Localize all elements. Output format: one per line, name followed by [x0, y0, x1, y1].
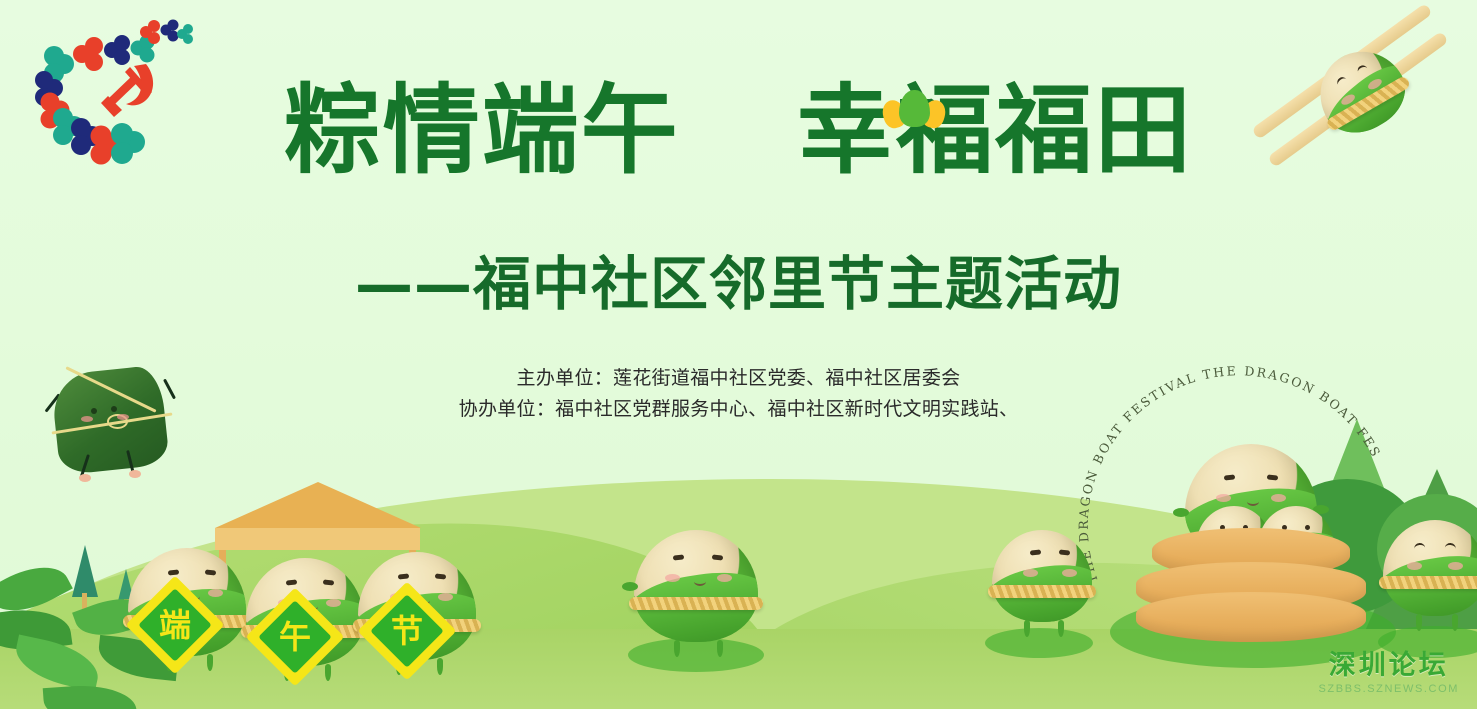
blush: [1407, 562, 1422, 570]
eye-icon: [204, 569, 215, 575]
page-subtitle: ——福中社区邻里节主题活动: [0, 255, 1477, 313]
tent-roof: [215, 482, 421, 528]
eye-icon: [1224, 474, 1235, 480]
zongzi-mascot-center: [634, 530, 758, 642]
blush: [665, 574, 680, 582]
page-title: 粽情端午 幸福福田: [0, 82, 1477, 179]
legs: [674, 640, 724, 658]
watermark-title: 深圳论坛: [1319, 643, 1460, 682]
tent-band: [215, 528, 420, 550]
sign-char: 端: [159, 609, 191, 641]
bamboo-steamer: [1136, 528, 1366, 648]
eye-closed-icon: [1414, 542, 1426, 549]
watermark-url: SZBBS.SZNEWS.COM: [1319, 683, 1460, 695]
mouth: [1247, 497, 1259, 506]
blush: [1271, 494, 1286, 502]
mouth: [694, 577, 706, 586]
leaf-icon: [11, 634, 103, 691]
eye-icon: [1030, 550, 1041, 556]
watermark: 深圳论坛 SZBBS.SZNEWS.COM: [1319, 643, 1460, 695]
eye-icon: [168, 569, 179, 575]
sign-char: 节: [391, 615, 423, 647]
rope: [629, 597, 763, 610]
blush: [1216, 494, 1231, 502]
eye-icon: [712, 554, 723, 560]
legs: [1416, 614, 1458, 632]
blush: [1448, 562, 1463, 570]
blush: [117, 414, 129, 420]
eye-icon: [398, 573, 409, 579]
zongzi-face: [1022, 550, 1078, 581]
rope: [1379, 576, 1477, 589]
legs: [1024, 620, 1064, 638]
zongzi-mascot-center-right: [992, 530, 1092, 622]
zongzi-face: [664, 555, 733, 593]
eye-icon: [286, 579, 297, 585]
steamer-tier: [1136, 592, 1366, 642]
eye-closed-icon: [1445, 542, 1457, 549]
eye-icon: [322, 579, 333, 585]
zongzi-flat-illustration: [55, 370, 175, 480]
eye-icon: [673, 554, 684, 560]
blush: [1023, 569, 1038, 577]
title-main-part1: 粽情端午: [284, 74, 680, 187]
zongzi-face: [1406, 543, 1464, 576]
blush: [81, 416, 93, 422]
eye-icon: [91, 408, 97, 414]
sign-char: 午: [279, 621, 311, 653]
arm: [163, 379, 176, 400]
blush: [326, 599, 341, 607]
zongzi-decoration-icon: [883, 88, 945, 128]
rope: [988, 585, 1096, 598]
foot: [79, 474, 91, 482]
eye-icon: [111, 406, 117, 412]
eye-icon: [434, 573, 445, 579]
blush: [717, 574, 732, 582]
zongzi-mascot-right: [1383, 520, 1477, 616]
leaf-icon: [43, 682, 138, 709]
blush: [1062, 569, 1077, 577]
arm: [622, 582, 638, 591]
poster-canvas: 粽情端午 幸福福田 ——福中社区邻里节主题活动 主办单位：莲花街道福中社区党委、…: [0, 0, 1477, 709]
zongzi-shape: [899, 90, 930, 127]
eye-icon: [1266, 474, 1277, 480]
arm: [1173, 508, 1189, 517]
foot: [129, 470, 141, 478]
eye-icon: [1059, 550, 1070, 556]
blush: [208, 589, 223, 597]
blush: [438, 593, 453, 601]
title-main-part2: 幸福福田: [797, 74, 1193, 187]
